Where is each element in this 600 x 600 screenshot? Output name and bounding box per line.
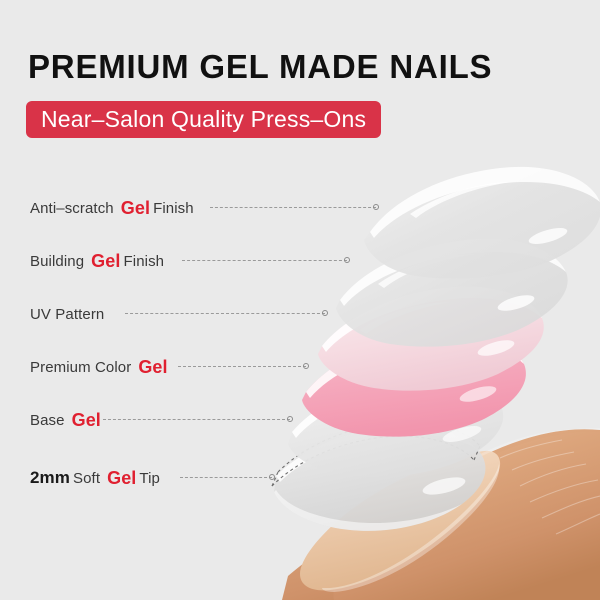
callout-label-part: Gel <box>88 251 123 272</box>
callout-label-part: Gel <box>118 198 153 219</box>
leader-line-premium-color-gel <box>178 366 306 368</box>
leader-line-2mm-soft-gel-tip <box>180 477 272 479</box>
callout-label-2mm-soft-gel-tip: 2mmSoftGelTip <box>30 466 160 490</box>
callout-label-part: Finish <box>153 200 194 217</box>
leader-endpoint-marker-uv-pattern <box>322 310 328 316</box>
fingertip <box>282 428 600 600</box>
callout-label-part: Premium Color <box>30 359 135 376</box>
callout-label-base-gel: BaseGel <box>30 408 104 432</box>
callout-label-building-gel-finish: BuildingGelFinish <box>30 249 164 273</box>
leader-endpoint-marker-premium-color-gel <box>303 363 309 369</box>
callout-label-part: Finish <box>124 253 165 270</box>
callout-label-uv-pattern: UV Pattern <box>30 302 104 326</box>
callout-label-part: UV Pattern <box>30 306 104 323</box>
callout-label-part: Base <box>30 412 69 429</box>
callout-label-part: Gel <box>104 468 139 489</box>
subtitle-badge: Near–Salon Quality Press–Ons <box>26 101 381 138</box>
nail-layer-artwork <box>0 0 600 600</box>
callout-label-anti-scratch-gel-finish: Anti–scratchGelFinish <box>30 196 194 220</box>
callout-row-2mm-soft-gel-tip: 2mmSoftGelTip <box>0 466 600 490</box>
leader-line-base-gel <box>103 419 290 421</box>
callout-label-part: Anti–scratch <box>30 200 118 217</box>
leader-line-anti-scratch-gel-finish <box>210 207 376 209</box>
callout-label-part: 2mm <box>30 468 73 488</box>
subtitle-badge-label: Near–Salon Quality Press–Ons <box>41 106 366 133</box>
callout-label-part: Building <box>30 253 88 270</box>
callout-row-base-gel: BaseGel <box>0 408 600 432</box>
callout-label-part: Tip <box>139 470 160 487</box>
callout-row-premium-color-gel: Premium ColorGel <box>0 355 600 379</box>
leader-endpoint-marker-base-gel <box>287 416 293 422</box>
leader-endpoint-marker-anti-scratch-gel-finish <box>373 204 379 210</box>
callout-row-building-gel-finish: BuildingGelFinish <box>0 249 600 273</box>
leader-endpoint-marker-2mm-soft-gel-tip <box>269 474 275 480</box>
leader-line-uv-pattern <box>125 313 325 315</box>
leader-endpoint-marker-building-gel-finish <box>344 257 350 263</box>
callout-label-part: Soft <box>73 470 104 487</box>
callout-label-part: Gel <box>135 357 170 378</box>
callout-row-uv-pattern: UV Pattern <box>0 302 600 326</box>
callout-label-premium-color-gel: Premium ColorGel <box>30 355 171 379</box>
leader-line-building-gel-finish <box>182 260 347 262</box>
page-title: PREMIUM GEL MADE NAILS <box>28 50 492 83</box>
callout-row-anti-scratch-gel-finish: Anti–scratchGelFinish <box>0 196 600 220</box>
product-infographic: PREMIUM GEL MADE NAILS Near–Salon Qualit… <box>0 0 600 600</box>
callout-label-part: Gel <box>69 410 104 431</box>
